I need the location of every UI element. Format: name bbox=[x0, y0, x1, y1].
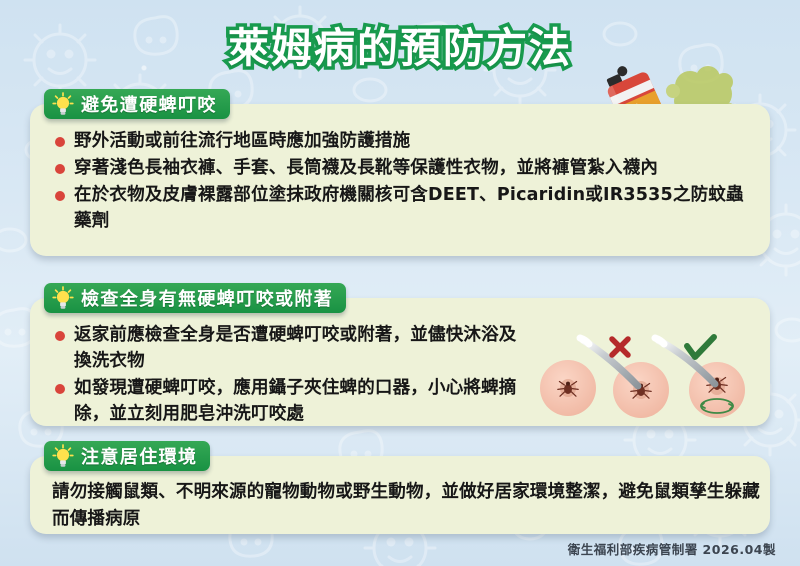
section-heading-badge-2: 檢查全身有無硬蜱叮咬或附著 bbox=[44, 283, 346, 313]
list-item: 返家前應檢查全身是否遭硬蜱叮咬或附著，並儘快沐浴及換洗衣物 bbox=[54, 322, 524, 374]
bullet-list-1: 野外活動或前往流行地區時應加強防護措施 穿著淺色長袖衣褲、手套、長筒襪及長靴等保… bbox=[54, 128, 754, 235]
list-item: 在於衣物及皮膚裸露部位塗抹政府機關核可含DEET、Picaridin或IR353… bbox=[54, 182, 754, 234]
section-heading-label-3: 注意居住環境 bbox=[81, 443, 197, 469]
section-heading-label-2: 檢查全身有無硬蜱叮咬或附著 bbox=[81, 285, 333, 311]
section-body-text-3: 請勿接觸鼠類、不明來源的寵物動物或野生動物，並做好居家環境整潔，避免鼠類孳生躲藏… bbox=[52, 479, 762, 533]
lightbulb-icon bbox=[52, 286, 74, 310]
section-heading-badge-1: 避免遭硬蜱叮咬 bbox=[44, 89, 230, 119]
infographic-poster: 萊姆病的預防方法 bbox=[0, 0, 800, 566]
list-item: 野外活動或前往流行地區時應加強防護措施 bbox=[54, 128, 754, 154]
lightbulb-icon bbox=[52, 444, 74, 468]
publisher-credit: 衛生福利部疾病管制署 2026.04製 bbox=[568, 539, 776, 558]
list-item: 穿著淺色長袖衣褲、手套、長筒襪及長靴等保護性衣物，並將褲管紮入襪內 bbox=[54, 155, 754, 181]
page-title: 萊姆病的預防方法 bbox=[0, 14, 800, 74]
section-heading-label-1: 避免遭硬蜱叮咬 bbox=[81, 91, 217, 117]
lightbulb-icon bbox=[52, 92, 74, 116]
list-item: 如發現遭硬蜱叮咬，應用鑷子夾住蜱的口器，小心將蜱摘除，並立刻用肥皂沖洗叮咬處 bbox=[54, 375, 524, 427]
bullet-list-2: 返家前應檢查全身是否遭硬蜱叮咬或附著，並儘快沐浴及換洗衣物 如發現遭硬蜱叮咬，應… bbox=[54, 322, 524, 428]
section-heading-badge-3: 注意居住環境 bbox=[44, 441, 210, 471]
